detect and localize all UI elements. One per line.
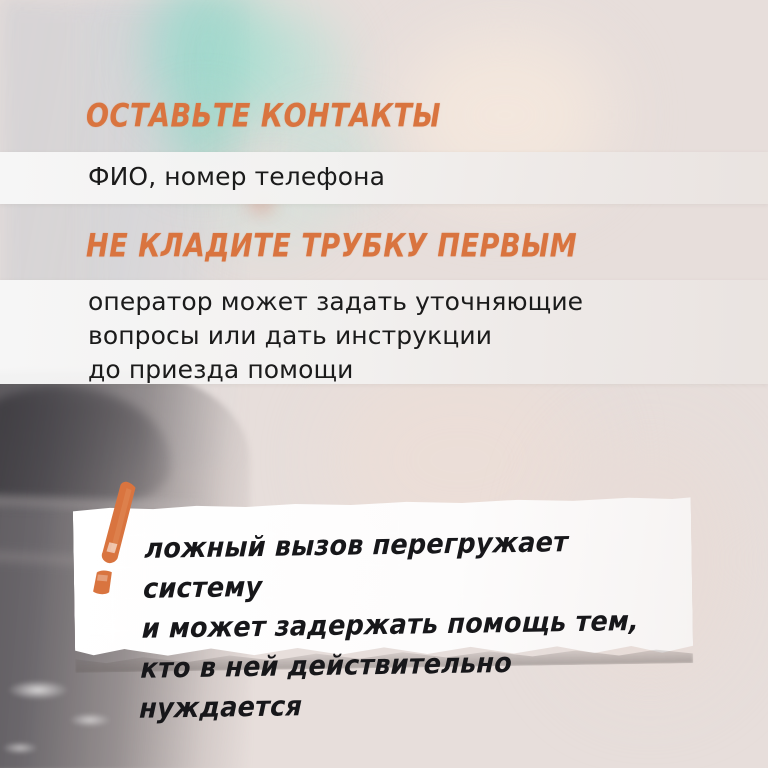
note-warning-text: ложный вызов перегружает систему и может… <box>139 521 685 729</box>
section-body-contacts: ФИО, номер телефона <box>88 160 385 194</box>
exclamation-mark-icon <box>86 480 150 603</box>
section-heading-contacts: ОСТАВЬТЕ КОНТАКТЫ <box>86 98 441 135</box>
section-body-hangup: оператор может задать уточняющие вопросы… <box>88 285 583 387</box>
poster-canvas: ОСТАВЬТЕ КОНТАКТЫ ФИО, номер телефона НЕ… <box>0 0 768 768</box>
background-dark-panel <box>0 400 150 490</box>
torn-paper-note: ложный вызов перегружает систему и может… <box>73 495 693 667</box>
section-heading-hangup: НЕ КЛАДИТЕ ТРУБКУ ПЕРВЫМ <box>86 228 577 265</box>
